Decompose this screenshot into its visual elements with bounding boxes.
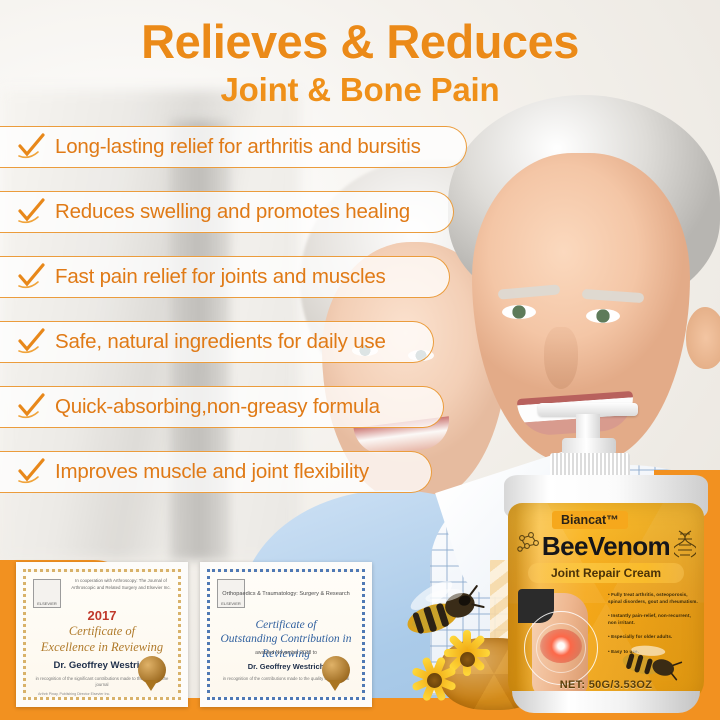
product-name: BeeVenom bbox=[508, 531, 704, 562]
feature-item-5[interactable]: Quick-absorbing,non-greasy formula bbox=[0, 386, 444, 428]
certificate-title: Certificate of Excellence in Reviewing bbox=[26, 624, 178, 655]
feature-item-2[interactable]: Reduces swelling and promotes healing bbox=[0, 191, 454, 233]
certificate-title-line1: Certificate of bbox=[210, 618, 362, 632]
feature-label: Fast pain relief for joints and muscles bbox=[55, 265, 386, 289]
feature-item-4[interactable]: Safe, natural ingredients for daily use bbox=[0, 321, 434, 363]
check-icon bbox=[16, 328, 46, 356]
certificate-seal-icon bbox=[138, 656, 168, 690]
product-benefit: • Especially for older adults. bbox=[608, 633, 700, 640]
elsevier-logo-icon: ELSEVIER bbox=[33, 579, 61, 608]
brand-badge: Biancat™ bbox=[552, 511, 628, 529]
check-icon bbox=[16, 263, 46, 291]
feature-item-3[interactable]: Fast pain relief for joints and muscles bbox=[0, 256, 450, 298]
check-icon bbox=[16, 458, 46, 486]
feature-label: Quick-absorbing,non-greasy formula bbox=[55, 395, 380, 419]
certificate-year: 2017 bbox=[26, 608, 178, 623]
page-title: Relieves & Reduces Joint & Bone Pain bbox=[0, 18, 720, 109]
jar-base bbox=[512, 691, 700, 713]
ad-canvas: Relieves & Reduces Joint & Bone Pain Lon… bbox=[0, 0, 720, 720]
certificate-2[interactable]: ELSEVIER Orthopaedics & Traumatology: Su… bbox=[200, 562, 372, 707]
product-benefit: • Fully treat arthritis, osteoporosis, s… bbox=[608, 591, 700, 605]
feature-label: Safe, natural ingredients for daily use bbox=[55, 330, 386, 354]
product-benefit: • Instantly pain-relief, non-recurrent, … bbox=[608, 612, 700, 626]
headline-secondary: Joint & Bone Pain bbox=[0, 71, 720, 109]
certificate-title-line2: Excellence in Reviewing bbox=[26, 640, 178, 656]
certificate-1[interactable]: ELSEVIER In cooperation with Arthroscopy… bbox=[16, 562, 188, 707]
pump-stem bbox=[576, 414, 600, 440]
feature-label: Improves muscle and joint flexibility bbox=[55, 460, 369, 484]
certificate-footer: Arthrb Pinay, Publishing Director Elsevi… bbox=[38, 692, 110, 698]
product-subtitle-pill: Joint Repair Cream bbox=[528, 563, 684, 583]
certificate-journal-name: Orthopaedics & Traumatology: Surgery & R… bbox=[210, 590, 362, 600]
check-icon bbox=[16, 133, 46, 161]
jar-label: Biancat™ BeeVenom Joint Repair Cream • F… bbox=[508, 503, 704, 703]
headline-primary: Relieves & Reduces bbox=[0, 18, 720, 67]
flower-icon bbox=[410, 656, 458, 704]
check-icon bbox=[16, 393, 46, 421]
certificate-gallery: ELSEVIER In cooperation with Arthroscopy… bbox=[16, 562, 372, 707]
feature-label: Reduces swelling and promotes healing bbox=[55, 200, 410, 224]
feature-item-1[interactable]: Long-lasting relief for arthritis and bu… bbox=[0, 126, 467, 168]
certificate-seal-icon bbox=[322, 656, 352, 690]
product-subtitle: Joint Repair Cream bbox=[551, 566, 661, 580]
product-jar[interactable]: Biancat™ BeeVenom Joint Repair Cream • F… bbox=[500, 403, 712, 715]
feature-label: Long-lasting relief for arthritis and bu… bbox=[55, 135, 421, 159]
certificate-top-note: In cooperation with Arthroscopy: The Jou… bbox=[70, 578, 172, 591]
check-icon bbox=[16, 198, 46, 226]
net-weight: NET: 50G/3.53OZ bbox=[508, 679, 704, 691]
certificate-title-line1: Certificate of bbox=[26, 624, 178, 640]
feature-item-6[interactable]: Improves muscle and joint flexibility bbox=[0, 451, 432, 493]
